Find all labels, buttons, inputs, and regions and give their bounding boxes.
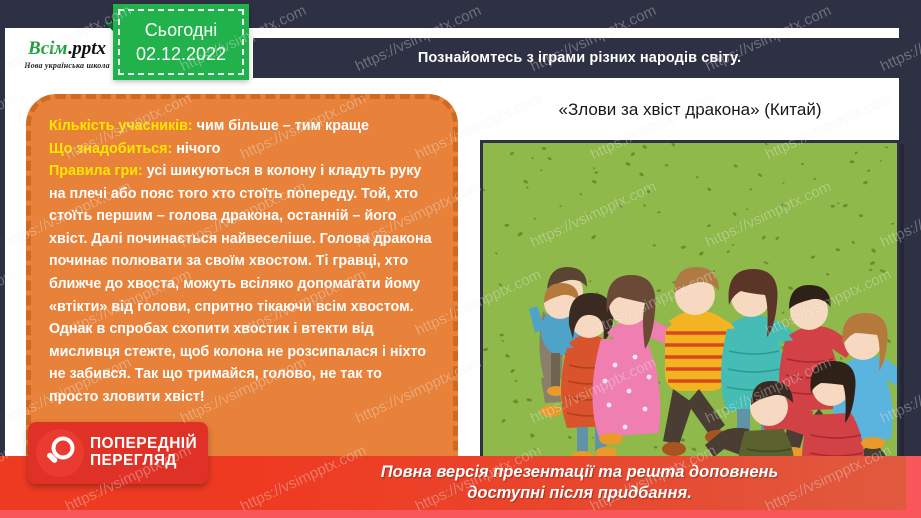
brand-logo-main: Всім.pptx (28, 38, 106, 60)
date-badge: Сьогодні 02.12.2022 (113, 4, 249, 80)
rules-line-rules: Правила гри: усі шикуються в колону і кл… (49, 160, 435, 408)
brand-logo-suffix: pptx (72, 38, 106, 59)
purchase-banner: Повна версія презентації та решта доповн… (253, 456, 906, 510)
slide-root: Познайомтесь з іграми різних народів сві… (0, 0, 921, 518)
date-badge-label: Сьогодні (145, 18, 218, 42)
purchase-banner-line1: Повна версія презентації та решта доповн… (381, 462, 779, 483)
brand-logo: Всім.pptx Нова українська школа (5, 28, 129, 80)
rules-label-materials: Що знадобиться: (49, 141, 172, 157)
rules-value-materials: нічого (172, 141, 220, 157)
rules-panel: Кількість учасників: чим більше – тим кр… (26, 94, 458, 476)
rules-label-participants: Кількість учасників: (49, 118, 193, 134)
preview-badge: ПОПЕРЕДНІЙ ПЕРЕГЛЯД (28, 422, 208, 484)
preview-badge-text: ПОПЕРЕДНІЙ ПЕРЕГЛЯД (90, 436, 197, 469)
preview-badge-line1: ПОПЕРЕДНІЙ (90, 436, 197, 453)
rules-value-rules: усі шикуються в колону і кладуть руку на… (49, 163, 432, 405)
date-badge-value: 02.12.2022 (136, 42, 226, 66)
rules-line-materials: Що знадобиться: нічого (49, 138, 435, 161)
brand-logo-subtitle: Нова українська школа (24, 61, 110, 70)
illustration-image (483, 143, 897, 460)
slide-header-title: Познайомтесь з іграми різних народів сві… (418, 50, 741, 66)
rules-value-participants: чим більше – тим краще (193, 118, 369, 134)
slide-header-bar: Познайомтесь з іграми різних народів сві… (253, 38, 906, 78)
rules-label-rules: Правила гри: (49, 163, 143, 179)
rules-line-participants: Кількість учасників: чим більше – тим кр… (49, 115, 435, 138)
brand-logo-prefix: Всім (28, 38, 67, 59)
rules-text: Кількість учасників: чим більше – тим кр… (49, 115, 435, 409)
illustration-caption: «Злови за хвіст дракона» (Китай) (470, 100, 910, 120)
illustration-frame (480, 140, 900, 463)
illustration-svg (483, 143, 897, 460)
purchase-banner-line2: доступні після придбання. (467, 483, 692, 504)
magnifier-icon (36, 429, 84, 477)
preview-badge-line2: ПЕРЕГЛЯД (90, 453, 197, 470)
